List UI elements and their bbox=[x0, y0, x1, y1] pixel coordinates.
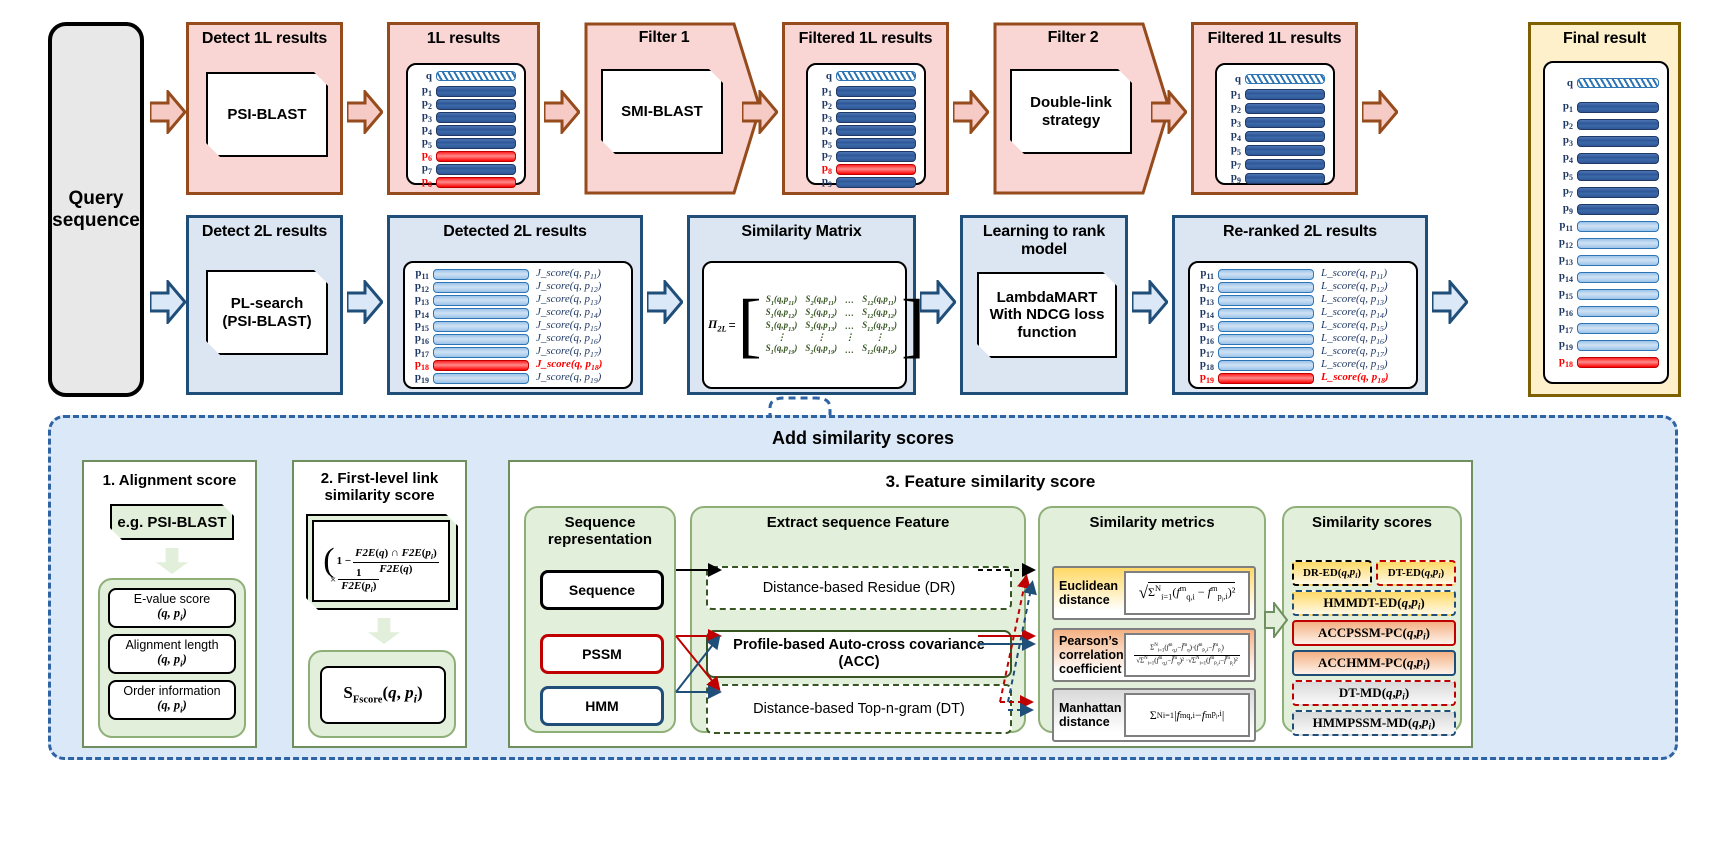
result-row: p16L_score(q, p16) bbox=[1192, 333, 1412, 346]
result-row-bar bbox=[1577, 136, 1659, 147]
alignment-item: Alignment length(q, pi) bbox=[108, 634, 236, 674]
result-row-label: p1 bbox=[1219, 87, 1245, 101]
result-row-bar bbox=[1218, 308, 1314, 319]
matrix-cell: S1(q,p12) bbox=[762, 307, 802, 320]
rows-filtered-1l-b: qp1p2p3p4p5p7p9 bbox=[1217, 65, 1333, 186]
result-row-bar bbox=[433, 321, 529, 332]
result-row-bar bbox=[433, 308, 529, 319]
arrow-detect2l-to-detected2l bbox=[347, 280, 383, 324]
rows-1l-results: qp1p2p3p4p5p6p7p8 bbox=[408, 65, 524, 189]
group-similarity-metrics-title: Similarity metrics bbox=[1040, 508, 1264, 531]
result-row: p1 bbox=[810, 85, 916, 97]
result-row-bar bbox=[836, 138, 916, 149]
result-row: p7 bbox=[1219, 158, 1325, 171]
add-similarity-scores-title: Add similarity scores bbox=[51, 418, 1675, 449]
arrow-reranked-to-final bbox=[1432, 280, 1468, 324]
result-row-label: p2 bbox=[1547, 117, 1577, 131]
result-row-label: p7 bbox=[1219, 157, 1245, 171]
alignment-item: Order information(q, pi) bbox=[108, 680, 236, 720]
result-row: p3 bbox=[410, 111, 516, 123]
arrow-filtered1la-to-filter2 bbox=[953, 90, 989, 134]
result-row-bar bbox=[433, 269, 529, 280]
result-row-bar bbox=[1218, 295, 1314, 306]
node-double-link-strategy-label: Double-link strategy bbox=[1030, 94, 1112, 129]
result-row-bar bbox=[1218, 321, 1314, 332]
formula-mul-denominator: F2E(pi) bbox=[338, 580, 379, 594]
matrix-cell: ⋮ bbox=[801, 332, 841, 343]
result-row: p11J_score(q, p11) bbox=[407, 268, 627, 281]
result-row-bar bbox=[1577, 221, 1659, 232]
matrix-cell: S12(q,p13) bbox=[858, 320, 901, 333]
panel-1l-results: 1L results qp1p2p3p4p5p6p7p8 bbox=[387, 22, 540, 195]
result-row: p17 bbox=[1547, 320, 1659, 336]
panel-similarity-matrix-title: Similarity Matrix bbox=[690, 218, 913, 241]
panel-detect-2l: Detect 2L results PL-search (PSI-BLAST) bbox=[186, 215, 343, 395]
result-row: p13 bbox=[1547, 252, 1659, 268]
section-feature-similarity: 3. Feature similarity score Sequence rep… bbox=[508, 460, 1473, 748]
similarity-score-chip[interactable]: DR-ED(q, pi) bbox=[1292, 560, 1372, 586]
matrix-cell: ⋮ bbox=[762, 332, 802, 343]
result-row-bar bbox=[436, 177, 516, 188]
result-row-label: p16 bbox=[1547, 304, 1577, 318]
result-row-bar bbox=[1577, 289, 1659, 300]
matrix-row: S1(q,p19)S2(q,p19)…S12(q,p19) bbox=[762, 343, 901, 356]
arrow-filter1-to-filtered1l-a bbox=[742, 90, 778, 134]
result-row: p4 bbox=[1547, 150, 1659, 166]
result-row: p2 bbox=[410, 98, 516, 110]
similarity-score-chip[interactable]: HMMPSSM-MD(q, pi) bbox=[1292, 710, 1456, 736]
result-row-bar bbox=[1245, 117, 1325, 128]
formula-mul-numerator: 1 bbox=[338, 567, 379, 580]
group-similarity-metrics: Similarity metrics Euclidean distance√ΣN… bbox=[1038, 506, 1266, 733]
result-row-bar bbox=[1245, 131, 1325, 142]
result-row-label: p9 bbox=[810, 175, 836, 189]
result-row-bar bbox=[1577, 153, 1659, 164]
result-row-label: p8 bbox=[410, 175, 436, 189]
similarity-score-chip[interactable]: ACCPSSM-PC(q, pi) bbox=[1292, 620, 1456, 646]
result-row: p7 bbox=[410, 163, 516, 175]
connectors-features-to-metrics bbox=[970, 552, 1070, 732]
result-row: p1 bbox=[1547, 99, 1659, 115]
result-row: p1 bbox=[410, 85, 516, 97]
result-row-label: p7 bbox=[1547, 185, 1577, 199]
result-row-bar bbox=[1577, 78, 1659, 88]
seq-rep-item-pssm[interactable]: PSSM bbox=[540, 634, 664, 674]
result-row-bar bbox=[1218, 269, 1314, 280]
result-row-bar bbox=[1218, 347, 1314, 358]
matrix-cell: ⋮ bbox=[858, 332, 901, 343]
arrow-detected2l-to-matrix bbox=[647, 280, 683, 324]
result-row-bar bbox=[836, 151, 916, 162]
result-row-bar bbox=[433, 360, 529, 371]
result-row: p19J_score(q, p19) bbox=[407, 372, 627, 385]
matrix-cell: … bbox=[841, 343, 858, 356]
result-row: p2 bbox=[810, 98, 916, 110]
rows-filtered-1l-a: qp1p2p3p4p5p7p8p9 bbox=[808, 65, 924, 189]
result-row-label: p19 bbox=[1192, 371, 1218, 385]
matrix-cell: … bbox=[841, 294, 858, 307]
result-row: p17L_score(q, p17) bbox=[1192, 346, 1412, 359]
chip-f2e-formula: ( 1 − F2E(q) ∩ F2E(pi) F2E(q) × 1 F2E(pi… bbox=[306, 514, 458, 610]
matrix-row: S1(q,p13)S2(q,p13)…S12(q,p13) bbox=[762, 320, 901, 333]
arrow-query-to-detect2l bbox=[150, 280, 186, 324]
matrix-table: S1(q,p11)S2(q,p11)…S12(q,p11)S1(q,p12)S2… bbox=[762, 294, 901, 356]
similarity-score-chip[interactable]: DT-MD(q, pi) bbox=[1292, 680, 1456, 706]
panel-final-result: Final result qp1p2p3p4p5p7p9p11p12p13p14… bbox=[1528, 22, 1681, 397]
similarity-metric-formula: ΣNi=1(fmq,i−f̄mq)·(fmpi,i−f̄mpi)√ΣNi=1(f… bbox=[1124, 633, 1250, 677]
result-row-bar bbox=[836, 112, 916, 123]
result-row: p11L_score(q, p11) bbox=[1192, 268, 1412, 281]
similarity-metric-formula: ΣNi=1|fmq,i − fmpi,i| bbox=[1124, 693, 1250, 737]
result-row-label: p13 bbox=[1547, 253, 1577, 267]
result-row: p7 bbox=[810, 150, 916, 162]
result-row: p12 bbox=[1547, 235, 1659, 251]
result-row: p18L_score(q, p19) bbox=[1192, 359, 1412, 372]
result-row-bar bbox=[1577, 255, 1659, 266]
result-row: p3 bbox=[1547, 133, 1659, 149]
result-row-label: p18 bbox=[1547, 355, 1577, 369]
result-row-bar bbox=[436, 164, 516, 175]
similarity-metric-item[interactable]: Pearson’s correlation coefficientΣNi=1(f… bbox=[1052, 628, 1256, 682]
query-sequence-box: Query sequence bbox=[48, 22, 144, 397]
result-row-label: p19 bbox=[407, 371, 433, 385]
node-smi-blast-label: SMI-BLAST bbox=[621, 103, 703, 120]
similarity-metric-formula: √ΣNi=1(fmq,i − fmpi,i)² bbox=[1124, 571, 1250, 615]
down-arrow-alignment bbox=[156, 548, 188, 574]
result-row: p15L_score(q, p15) bbox=[1192, 320, 1412, 333]
chip-psi-blast[interactable]: e.g. PSI-BLAST bbox=[110, 504, 234, 540]
card-similarity-matrix: Π2L = [ S1(q,p11)S2(q,p11)…S12(q,p11)S1(… bbox=[702, 261, 907, 389]
matrix-cell: ⋮ bbox=[841, 332, 858, 343]
result-row-bar bbox=[836, 177, 916, 188]
result-row-label: p2 bbox=[1219, 101, 1245, 115]
card-detected-2l: p11J_score(q, p11)p12J_score(q, p12)p13J… bbox=[403, 261, 633, 389]
result-row: p9 bbox=[810, 176, 916, 188]
result-row-bar bbox=[1218, 282, 1314, 293]
matrix-cell: … bbox=[841, 320, 858, 333]
matrix-cell: S12(q,p11) bbox=[858, 294, 901, 307]
result-row-bar bbox=[436, 138, 516, 149]
group-sequence-representation: Sequence representation SequencePSSMHMM bbox=[524, 506, 676, 733]
result-row: p5 bbox=[1547, 167, 1659, 183]
result-row: p13J_score(q, p13) bbox=[407, 294, 627, 307]
similarity-score-chip[interactable]: HMMDT-ED(q, pi) bbox=[1292, 590, 1456, 616]
section-first-level-link-title: 2. First-level link similarity score bbox=[294, 462, 465, 505]
panel-similarity-matrix: Similarity Matrix Π2L = [ S1(q,p11)S2(q,… bbox=[687, 215, 916, 395]
result-row-bar bbox=[836, 86, 916, 97]
seq-rep-item-sequence[interactable]: Sequence bbox=[540, 570, 664, 610]
card-filtered-1l-b: qp1p2p3p4p5p7p9 bbox=[1215, 63, 1335, 185]
similarity-score-chip[interactable]: DT-ED(q, pi) bbox=[1376, 560, 1456, 586]
node-pl-search-label: PL-search (PSI-BLAST) bbox=[222, 295, 311, 330]
result-row-bar bbox=[436, 112, 516, 123]
panel-detected-2l-title: Detected 2L results bbox=[390, 218, 640, 241]
matrix-cell: S12(q,p12) bbox=[858, 307, 901, 320]
card-final-result: qp1p2p3p4p5p7p9p11p12p13p14p15p16p17p19p… bbox=[1543, 61, 1669, 384]
result-row: p4 bbox=[810, 124, 916, 136]
result-row: p14L_score(q, p14) bbox=[1192, 307, 1412, 320]
result-row-label: q bbox=[1219, 73, 1245, 85]
result-row: p3 bbox=[1219, 116, 1325, 129]
alignment-item: E-value score(q, pi) bbox=[108, 588, 236, 628]
result-row-bar bbox=[1245, 159, 1325, 170]
panel-detected-2l: Detected 2L results p11J_score(q, p11)p1… bbox=[387, 215, 643, 395]
alignment-items-group: E-value score(q, pi)Alignment length(q, … bbox=[98, 578, 246, 738]
result-row: p19L_score(q, p18) bbox=[1192, 372, 1412, 385]
formula-times: × bbox=[330, 574, 338, 586]
result-row-bar bbox=[836, 125, 916, 136]
result-row-label: p3 bbox=[1219, 115, 1245, 129]
card-filtered-1l-a: qp1p2p3p4p5p7p8p9 bbox=[806, 63, 926, 185]
fscore-group: SFscore(q, pi) bbox=[308, 650, 456, 738]
result-row-label: p9 bbox=[1219, 171, 1245, 185]
result-row-label: p17 bbox=[1547, 321, 1577, 335]
result-row: p2 bbox=[1547, 116, 1659, 132]
result-row-label: p9 bbox=[1547, 202, 1577, 216]
result-row-bar bbox=[1577, 204, 1659, 215]
result-row-label: p3 bbox=[1547, 134, 1577, 148]
result-row-bar bbox=[836, 99, 916, 110]
node-pl-search[interactable]: PL-search (PSI-BLAST) bbox=[206, 270, 328, 355]
result-row-label: p12 bbox=[1547, 236, 1577, 250]
result-row: p1 bbox=[1219, 88, 1325, 101]
panel-final-result-title: Final result bbox=[1531, 25, 1678, 48]
matrix-cell: S2(q,p19) bbox=[801, 343, 841, 356]
result-row-bar bbox=[1218, 373, 1314, 384]
result-row-bar bbox=[436, 125, 516, 136]
seq-rep-item-hmm[interactable]: HMM bbox=[540, 686, 664, 726]
result-row-bar bbox=[433, 295, 529, 306]
arrow-filter2-to-filtered1l-b bbox=[1151, 90, 1187, 134]
result-row-bar bbox=[1577, 119, 1659, 130]
result-row: q bbox=[410, 70, 516, 82]
panel-detect-1l: Detect 1L results PSI-BLAST bbox=[186, 22, 343, 195]
node-lambdamart[interactable]: LambdaMART With NDCG loss function bbox=[977, 272, 1117, 358]
similarity-score-chip[interactable]: ACCHMM-PC(q, pi) bbox=[1292, 650, 1456, 676]
result-row-label: p14 bbox=[1547, 270, 1577, 284]
matrix-cell: S1(q,p13) bbox=[762, 320, 802, 333]
result-row: p5 bbox=[1219, 144, 1325, 157]
result-row-label: p11 bbox=[1547, 219, 1577, 233]
result-row: p9 bbox=[1219, 172, 1325, 185]
card-reranked-2l: p11L_score(q, p11)p12L_score(q, p12)p13L… bbox=[1188, 261, 1418, 389]
matrix-bracket-left: [ bbox=[738, 303, 762, 348]
rows-detected-2l: p11J_score(q, p11)p12J_score(q, p12)p13J… bbox=[405, 263, 631, 385]
result-row-bar bbox=[1218, 334, 1314, 345]
result-row-bar bbox=[836, 71, 916, 81]
arrow-filtered1lb-to-final bbox=[1362, 90, 1398, 134]
result-row-bar bbox=[836, 164, 916, 175]
node-smi-blast[interactable]: SMI-BLAST bbox=[601, 69, 723, 154]
result-row: p8 bbox=[810, 163, 916, 175]
result-row-bar bbox=[1245, 103, 1325, 114]
result-row-score: J_score(q, p19) bbox=[529, 371, 601, 385]
result-row-bar bbox=[436, 99, 516, 110]
result-row: p11 bbox=[1547, 218, 1659, 234]
panel-reranked-2l-title: Re-ranked 2L results bbox=[1175, 218, 1425, 241]
result-row-bar bbox=[436, 151, 516, 162]
result-row: p17J_score(q, p17) bbox=[407, 346, 627, 359]
result-row: q bbox=[1547, 75, 1659, 91]
arrow-detect1l-to-results1l bbox=[347, 90, 383, 134]
result-row-bar bbox=[433, 347, 529, 358]
result-row-label: p4 bbox=[1547, 151, 1577, 165]
arrow-query-to-detect1l bbox=[150, 90, 186, 134]
result-row: p14 bbox=[1547, 269, 1659, 285]
matrix-cell: S1(q,p11) bbox=[762, 294, 802, 307]
section-first-level-link: 2. First-level link similarity score ( 1… bbox=[292, 460, 467, 748]
result-row: p4 bbox=[410, 124, 516, 136]
result-row-label: p19 bbox=[1547, 338, 1577, 352]
group-sequence-representation-title: Sequence representation bbox=[526, 508, 674, 549]
result-row-label: p4 bbox=[1219, 129, 1245, 143]
result-row-label: p5 bbox=[1219, 143, 1245, 157]
similarity-metric-item[interactable]: Manhattan distanceΣNi=1|fmq,i − fmpi,i| bbox=[1052, 688, 1256, 742]
matrix-cell: S1(q,p19) bbox=[762, 343, 802, 356]
panel-filtered-1l-b: Filtered 1L results qp1p2p3p4p5p7p9 bbox=[1191, 22, 1358, 195]
result-row: q bbox=[810, 70, 916, 82]
result-row: p15 bbox=[1547, 286, 1659, 302]
group-similarity-scores-title: Similarity scores bbox=[1284, 508, 1460, 531]
result-row: p2 bbox=[1219, 102, 1325, 115]
result-row: p18 bbox=[1547, 354, 1659, 370]
result-row: p19 bbox=[1547, 337, 1659, 353]
result-row-bar bbox=[436, 71, 516, 81]
result-row: p7 bbox=[1547, 184, 1659, 200]
result-row-bar bbox=[1577, 357, 1659, 368]
result-row: p5 bbox=[810, 137, 916, 149]
result-row-score: L_score(q, p18) bbox=[1314, 371, 1389, 385]
section-feature-similarity-title: 3. Feature similarity score bbox=[510, 462, 1471, 492]
result-row: p9 bbox=[1547, 201, 1659, 217]
panel-filtered-1l-b-title: Filtered 1L results bbox=[1194, 25, 1355, 48]
alignment-items-list: E-value score(q, pi)Alignment length(q, … bbox=[100, 580, 244, 734]
result-row-bar bbox=[1577, 323, 1659, 334]
result-row-bar bbox=[1577, 340, 1659, 351]
result-row-label: p1 bbox=[1547, 100, 1577, 114]
node-psi-blast[interactable]: PSI-BLAST bbox=[206, 72, 328, 157]
down-arrow-fscore bbox=[368, 618, 400, 644]
formula-numerator: F2E(q) ∩ F2E(pi) bbox=[353, 547, 439, 562]
panel-1l-results-title: 1L results bbox=[390, 25, 537, 48]
group-similarity-scores: Similarity scores DR-ED(q, pi)DT-ED(q, p… bbox=[1282, 506, 1462, 733]
result-row-bar bbox=[1245, 74, 1325, 84]
result-row: q bbox=[1219, 72, 1325, 85]
result-row-bar bbox=[436, 86, 516, 97]
result-row-label: p5 bbox=[1547, 168, 1577, 182]
matrix-cell: S2(q,p11) bbox=[801, 294, 841, 307]
result-row-bar bbox=[1245, 173, 1325, 184]
matrix-cell: S12(q,p19) bbox=[858, 343, 901, 356]
fscore-result: SFscore(q, pi) bbox=[320, 666, 446, 724]
matrix-cell: … bbox=[841, 307, 858, 320]
query-sequence-label: Query sequence bbox=[52, 188, 140, 232]
panel-filter-2-title: Filter 2 bbox=[993, 24, 1153, 47]
result-row-bar bbox=[1577, 272, 1659, 283]
node-double-link-strategy[interactable]: Double-link strategy bbox=[1010, 69, 1132, 154]
result-row-label: q bbox=[410, 70, 436, 82]
panel-filtered-1l-a: Filtered 1L results qp1p2p3p4p5p7p8p9 bbox=[782, 22, 949, 195]
matrix-cell: S2(q,p13) bbox=[801, 320, 841, 333]
result-row: p14J_score(q, p14) bbox=[407, 307, 627, 320]
formula-lead: 1 − bbox=[335, 555, 354, 567]
group-extract-feature-title: Extract sequence Feature bbox=[692, 508, 1024, 531]
panel-detect-2l-title: Detect 2L results bbox=[189, 218, 340, 241]
result-row: p12L_score(q, p12) bbox=[1192, 281, 1412, 294]
result-row: p6 bbox=[410, 150, 516, 162]
rows-final-result: qp1p2p3p4p5p7p9p11p12p13p14p15p16p17p19p… bbox=[1545, 63, 1667, 371]
result-row-bar bbox=[1577, 187, 1659, 198]
node-psi-blast-label: PSI-BLAST bbox=[227, 106, 306, 123]
result-row: p16 bbox=[1547, 303, 1659, 319]
result-row: p16J_score(q, p16) bbox=[407, 333, 627, 346]
section-alignment-score-title: 1. Alignment score bbox=[84, 462, 255, 489]
result-row-bar bbox=[1245, 89, 1325, 100]
result-row: p8 bbox=[410, 176, 516, 188]
result-row-bar bbox=[433, 334, 529, 345]
node-lambdamart-label: LambdaMART With NDCG loss function bbox=[979, 289, 1115, 341]
result-row: p5 bbox=[410, 137, 516, 149]
result-row-bar bbox=[1577, 170, 1659, 181]
matrix-row: S1(q,p12)S2(q,p12)…S12(q,p12) bbox=[762, 307, 901, 320]
result-row-bar bbox=[433, 373, 529, 384]
result-row: p18J_score(q, p18) bbox=[407, 359, 627, 372]
matrix-equals: = bbox=[727, 318, 738, 332]
matrix-row: S1(q,p11)S2(q,p11)…S12(q,p11) bbox=[762, 294, 901, 307]
result-row-bar bbox=[1577, 238, 1659, 249]
arrow-metrics-to-scores bbox=[1264, 602, 1288, 638]
result-row-bar bbox=[1577, 306, 1659, 317]
rows-reranked-2l: p11L_score(q, p11)p12L_score(q, p12)p13L… bbox=[1190, 263, 1416, 385]
result-row-label: q bbox=[810, 70, 836, 82]
result-row: p3 bbox=[810, 111, 916, 123]
matrix-row: ⋮⋮⋮⋮ bbox=[762, 332, 901, 343]
result-row-bar bbox=[433, 282, 529, 293]
result-row-bar bbox=[1218, 360, 1314, 371]
result-row-bar bbox=[1577, 102, 1659, 113]
matrix-symbol: Π2L bbox=[708, 317, 727, 333]
arrow-results1l-to-filter1 bbox=[544, 90, 580, 134]
result-row: p4 bbox=[1219, 130, 1325, 143]
result-row: p15J_score(q, p15) bbox=[407, 320, 627, 333]
similarity-metric-item[interactable]: Euclidean distance√ΣNi=1(fmq,i − fmpi,i)… bbox=[1052, 566, 1256, 620]
fscore-result-label: SFscore(q, pi) bbox=[343, 683, 422, 707]
panel-learning-to-rank-title: Learning to rank model bbox=[963, 218, 1125, 258]
chip-psi-blast-label: e.g. PSI-BLAST bbox=[117, 514, 226, 531]
result-row-bar bbox=[1245, 145, 1325, 156]
result-row-label: p15 bbox=[1547, 287, 1577, 301]
panel-filter-1-title: Filter 1 bbox=[584, 24, 744, 47]
arrow-ltr-to-reranked bbox=[1132, 280, 1168, 324]
matrix-cell: S2(q,p12) bbox=[801, 307, 841, 320]
panel-reranked-2l: Re-ranked 2L results p11L_score(q, p11)p… bbox=[1172, 215, 1428, 395]
result-row: p12J_score(q, p12) bbox=[407, 281, 627, 294]
result-row: p13L_score(q, p13) bbox=[1192, 294, 1412, 307]
section-alignment-score: 1. Alignment score e.g. PSI-BLAST E-valu… bbox=[82, 460, 257, 748]
card-1l-results: qp1p2p3p4p5p6p7p8 bbox=[406, 63, 526, 185]
panel-detect-1l-title: Detect 1L results bbox=[189, 25, 340, 48]
panel-learning-to-rank: Learning to rank model LambdaMART With N… bbox=[960, 215, 1128, 395]
panel-filtered-1l-a-title: Filtered 1L results bbox=[785, 25, 946, 48]
arrow-matrix-to-ltr bbox=[920, 280, 956, 324]
result-row-label: q bbox=[1547, 77, 1577, 89]
